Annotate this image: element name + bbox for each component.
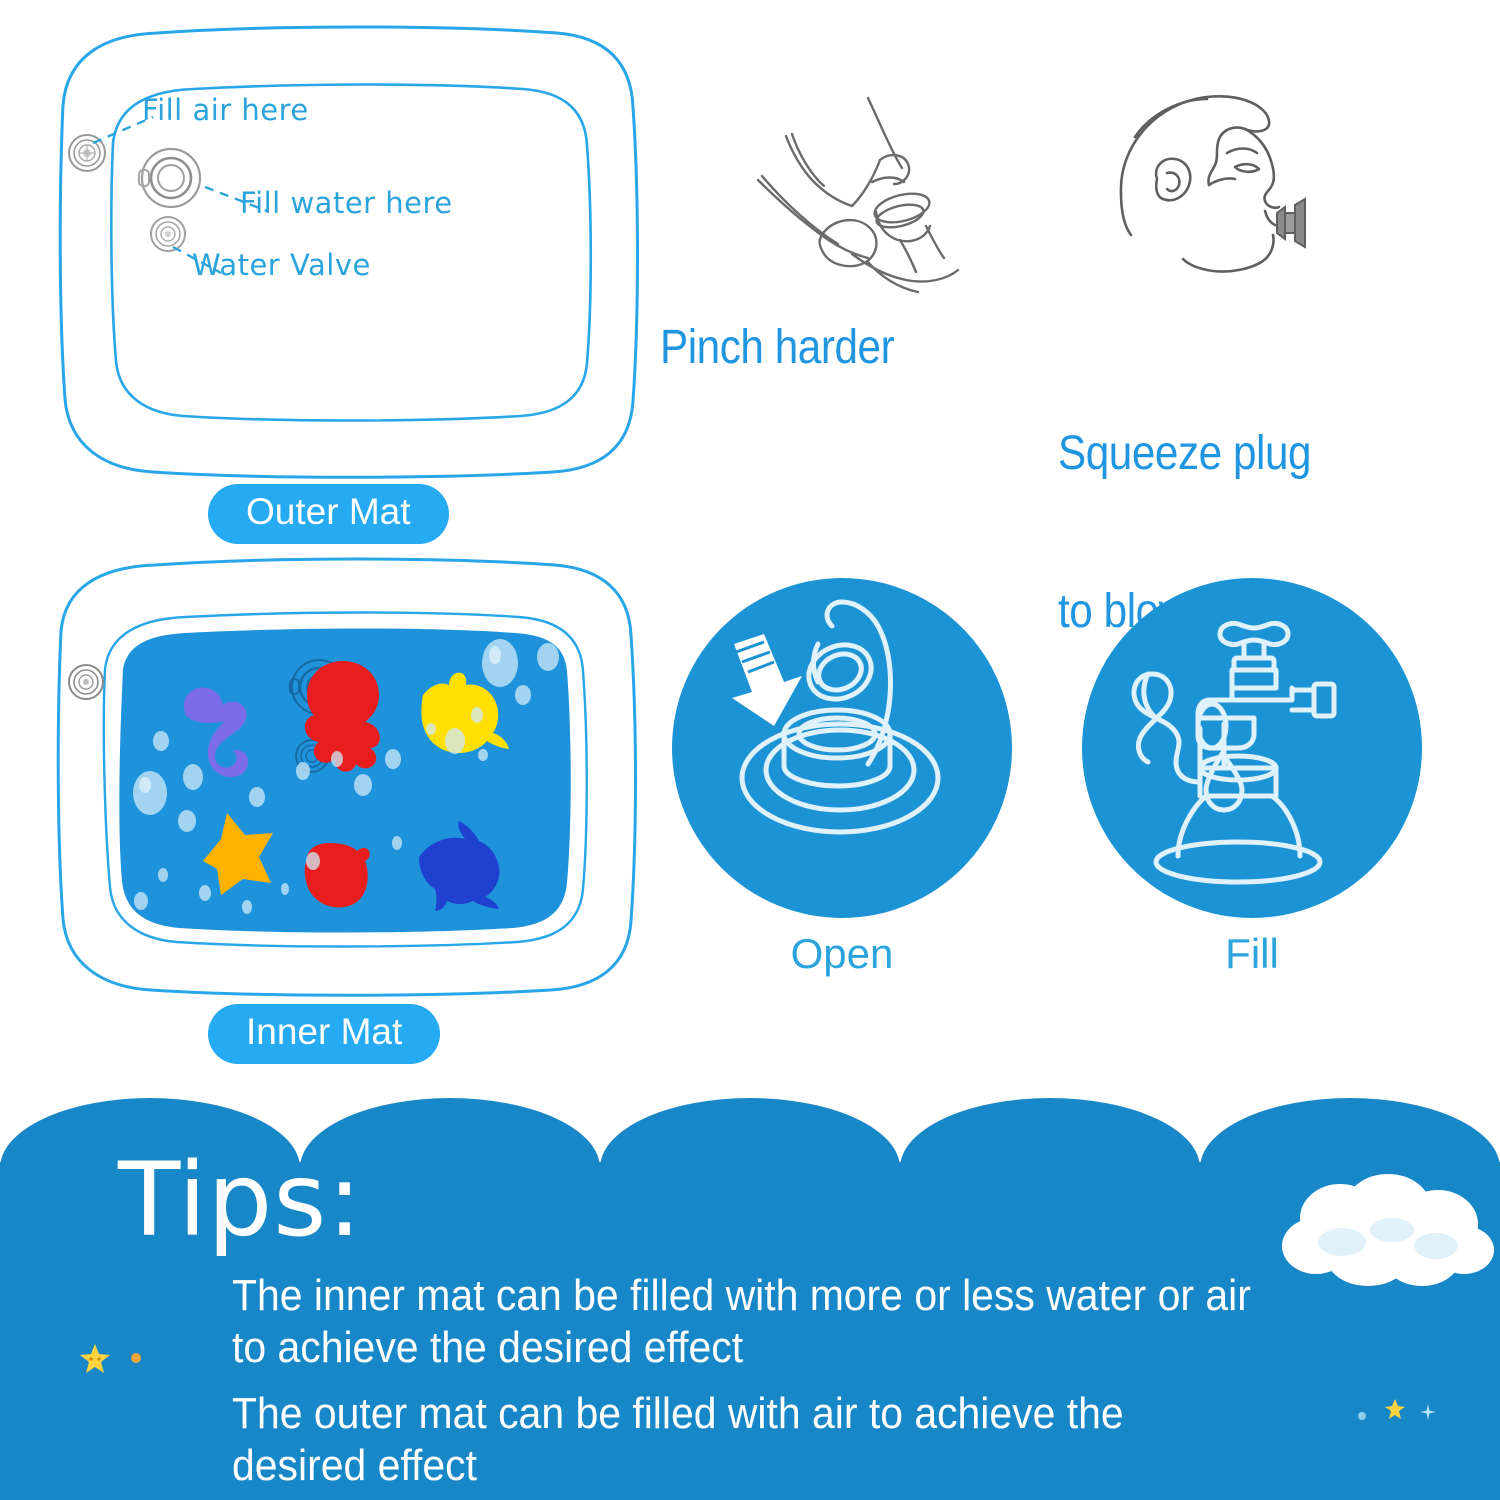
squeeze-caption-line-1: Squeeze plug (1058, 428, 1311, 481)
water-droplets (45, 545, 645, 1005)
valve-plug-icon (1277, 199, 1305, 247)
instruction-infographic: Fill air here Fill water here Water Valv… (0, 0, 1500, 1500)
star-icon (1384, 1398, 1406, 1420)
fill-step-disc (1082, 578, 1422, 918)
sparkle-icon (130, 1352, 142, 1364)
open-step-disc (672, 578, 1012, 918)
valve-cap-open-icon (672, 578, 1012, 918)
fill-step-label: Fill (1082, 930, 1422, 978)
hand-pinching-valve-sketch (740, 90, 1020, 315)
inner-mat-badge: Inner Mat (208, 1004, 440, 1064)
cloud-icon (1272, 1172, 1498, 1298)
star-icon (78, 1342, 112, 1376)
outer-mat-badge: Outer Mat (208, 484, 449, 544)
tips-section: Tips: The inner mat can be filled with m… (0, 1098, 1500, 1500)
pinch-harder-caption: Pinch harder (660, 322, 894, 375)
faucet-water-drop-icon (1082, 578, 1422, 918)
sparkle-icon (1420, 1404, 1436, 1420)
down-arrow-icon (732, 634, 802, 726)
open-step-label: Open (672, 930, 1012, 978)
step-open: Open (672, 578, 1012, 918)
step-fill: Fill (1082, 578, 1422, 918)
inner-mat-diagram (45, 545, 645, 1005)
callout-fill-water-here: Fill water here (240, 186, 453, 220)
tips-title: Tips: (118, 1150, 363, 1252)
tip-item-1: The inner mat can be filled with more or… (232, 1270, 1264, 1374)
head-profile-blowing-sketch (1095, 85, 1395, 325)
tip-item-2: The outer mat can be filled with air to … (232, 1388, 1264, 1492)
callout-water-valve: Water Valve (192, 248, 371, 282)
sparkle-icon (1356, 1410, 1368, 1422)
callout-fill-air-here: Fill air here (142, 93, 309, 127)
